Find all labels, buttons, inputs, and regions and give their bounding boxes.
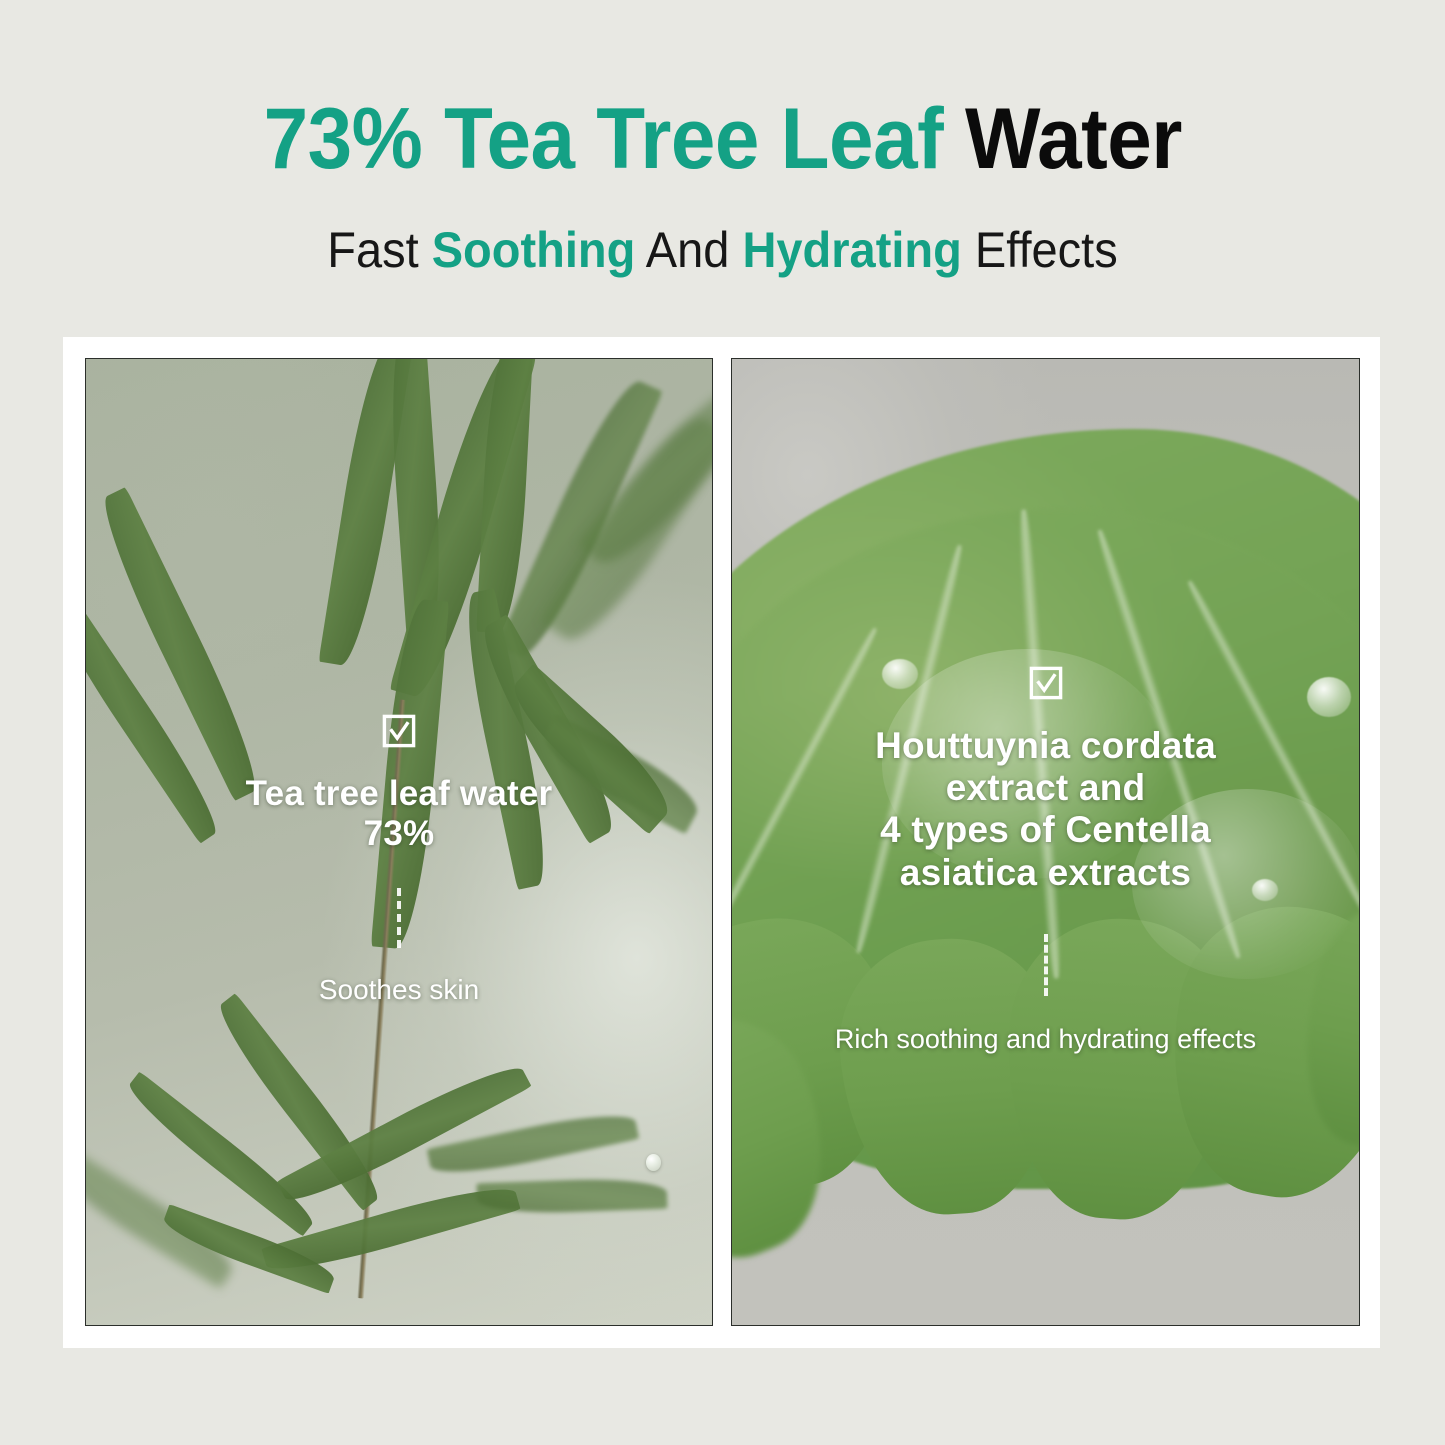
subtitle-segment-effects: Effects: [962, 222, 1118, 278]
checkbox-checked-icon: [382, 714, 416, 748]
centella-title: Houttuynia cordata extract and 4 types o…: [875, 725, 1216, 894]
headline-accent-text: 73% Tea Tree Leaf: [263, 91, 943, 187]
subtitle-segment-fast: Fast: [327, 222, 431, 278]
tea-tree-title: Tea tree leaf water 73%: [246, 774, 553, 854]
centella-divider: [1044, 934, 1048, 996]
panel-grid: Tea tree leaf water 73% Soothes skin: [85, 358, 1360, 1326]
subtitle-segment-hydrating: Hydrating: [743, 222, 962, 278]
page-subtitle: Fast Soothing And Hydrating Effects: [327, 225, 1117, 275]
centella-caption: Rich soothing and hydrating effects: [835, 1024, 1256, 1055]
centella-overlay: Houttuynia cordata extract and 4 types o…: [732, 666, 1359, 1055]
tea-tree-caption: Soothes skin: [319, 974, 479, 1006]
panel-tea-tree: Tea tree leaf water 73% Soothes skin: [85, 358, 713, 1326]
image-frame: Tea tree leaf water 73% Soothes skin: [63, 337, 1380, 1348]
tea-tree-overlay: Tea tree leaf water 73% Soothes skin: [86, 714, 712, 1006]
panel-centella: Houttuynia cordata extract and 4 types o…: [731, 358, 1360, 1326]
subtitle-segment-soothing: Soothing: [432, 222, 636, 278]
checkbox-checked-icon: [1029, 666, 1063, 700]
page-title: 73% Tea Tree Leaf Water: [263, 96, 1181, 182]
header-block: 73% Tea Tree Leaf Water Fast Soothing An…: [0, 0, 1445, 337]
subtitle-segment-and: And: [635, 222, 742, 278]
headline-dark-text: Water: [965, 91, 1182, 187]
tea-tree-divider: [397, 888, 401, 948]
